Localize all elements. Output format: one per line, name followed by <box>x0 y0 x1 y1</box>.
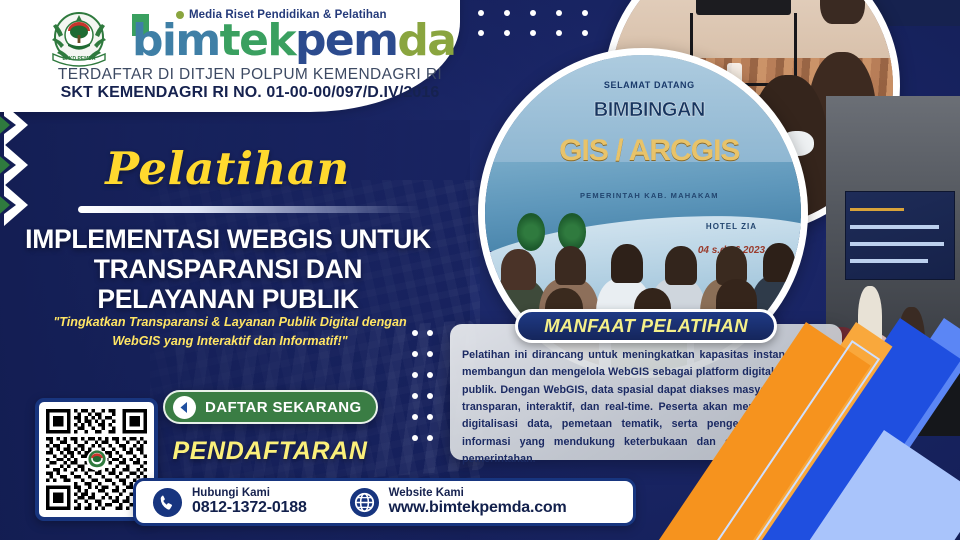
title-line-3: PELAYANAN PUBLIK <box>8 284 448 314</box>
kemendagri-crest-icon: LPKD PEMDA <box>46 10 112 72</box>
title-line-2: TRANSPARANSI DAN <box>8 254 448 284</box>
phone-icon <box>152 487 183 518</box>
contact-phone[interactable]: Hubungi Kami 0812-1372-0188 <box>152 487 307 518</box>
banner-line-3: GIS / ARCGIS <box>542 134 757 168</box>
hero-divider <box>78 206 420 213</box>
contact-website[interactable]: Website Kami www.bimtekpemda.com <box>349 487 567 518</box>
brand-wordmark: bimtekpemda <box>132 19 455 63</box>
registration-line-2: SKT KEMENDAGRI RI NO. 01-00-00/097/D.IV/… <box>52 84 448 102</box>
contact-bar: Hubungi Kami 0812-1372-0188 Website Kami… <box>133 478 636 526</box>
hero-eyebrow: Pelatihan <box>0 142 455 195</box>
website-label: Website Kami <box>389 487 567 500</box>
brand-part-pem: pem <box>295 15 397 66</box>
title-line-1: IMPLEMENTASI WEBGIS UNTUK <box>8 224 448 254</box>
brand-part-tek: tek <box>220 15 295 66</box>
banner-line-1: SELAMAT DATANG <box>567 80 731 90</box>
benefits-badge-label: MANFAAT PELATIHAN <box>544 315 748 337</box>
svg-text:LPKD PEMDA: LPKD PEMDA <box>62 56 95 62</box>
qr-center-logo-icon <box>85 448 108 471</box>
registration-line-1: TERDAFTAR DI DITJEN POLPUM KEMENDAGRI RI <box>52 66 448 84</box>
website-value: www.bimtekpemda.com <box>389 499 567 517</box>
benefits-badge: MANFAAT PELATIHAN <box>515 309 777 343</box>
brand-logo: LPKD PEMDA Media Riset Pendidikan & Pela… <box>46 8 446 104</box>
phone-value: 0812-1372-0188 <box>192 499 307 517</box>
globe-icon <box>349 487 380 518</box>
chevron-left-icon <box>173 396 196 419</box>
page-title: IMPLEMENTASI WEBGIS UNTUK TRANSPARANSI D… <box>8 224 448 315</box>
phone-label: Hubungi Kami <box>192 487 307 500</box>
register-now-button[interactable]: DAFTAR SEKARANG <box>163 390 378 424</box>
dot-grid-top <box>452 6 588 42</box>
qr-code <box>46 409 147 510</box>
brand-part-da: da <box>397 15 455 66</box>
banner-line-5: HOTEL ZIA <box>668 222 794 231</box>
banner-line-4: PEMERINTAH KAB. MAHAKAM <box>548 191 750 200</box>
register-now-label: DAFTAR SEKARANG <box>205 399 362 416</box>
registration-heading: PENDAFTARAN <box>150 437 390 466</box>
hero-subtitle: "Tingkatkan Transparansi & Layanan Publi… <box>30 313 430 351</box>
poster-canvas: SELAMAT DATANG BIMBINGAN GIS / ARCGIS PE… <box>0 0 960 540</box>
brand-part-bim: bim <box>132 15 220 66</box>
banner-line-2: BIMBINGAN <box>536 99 764 122</box>
